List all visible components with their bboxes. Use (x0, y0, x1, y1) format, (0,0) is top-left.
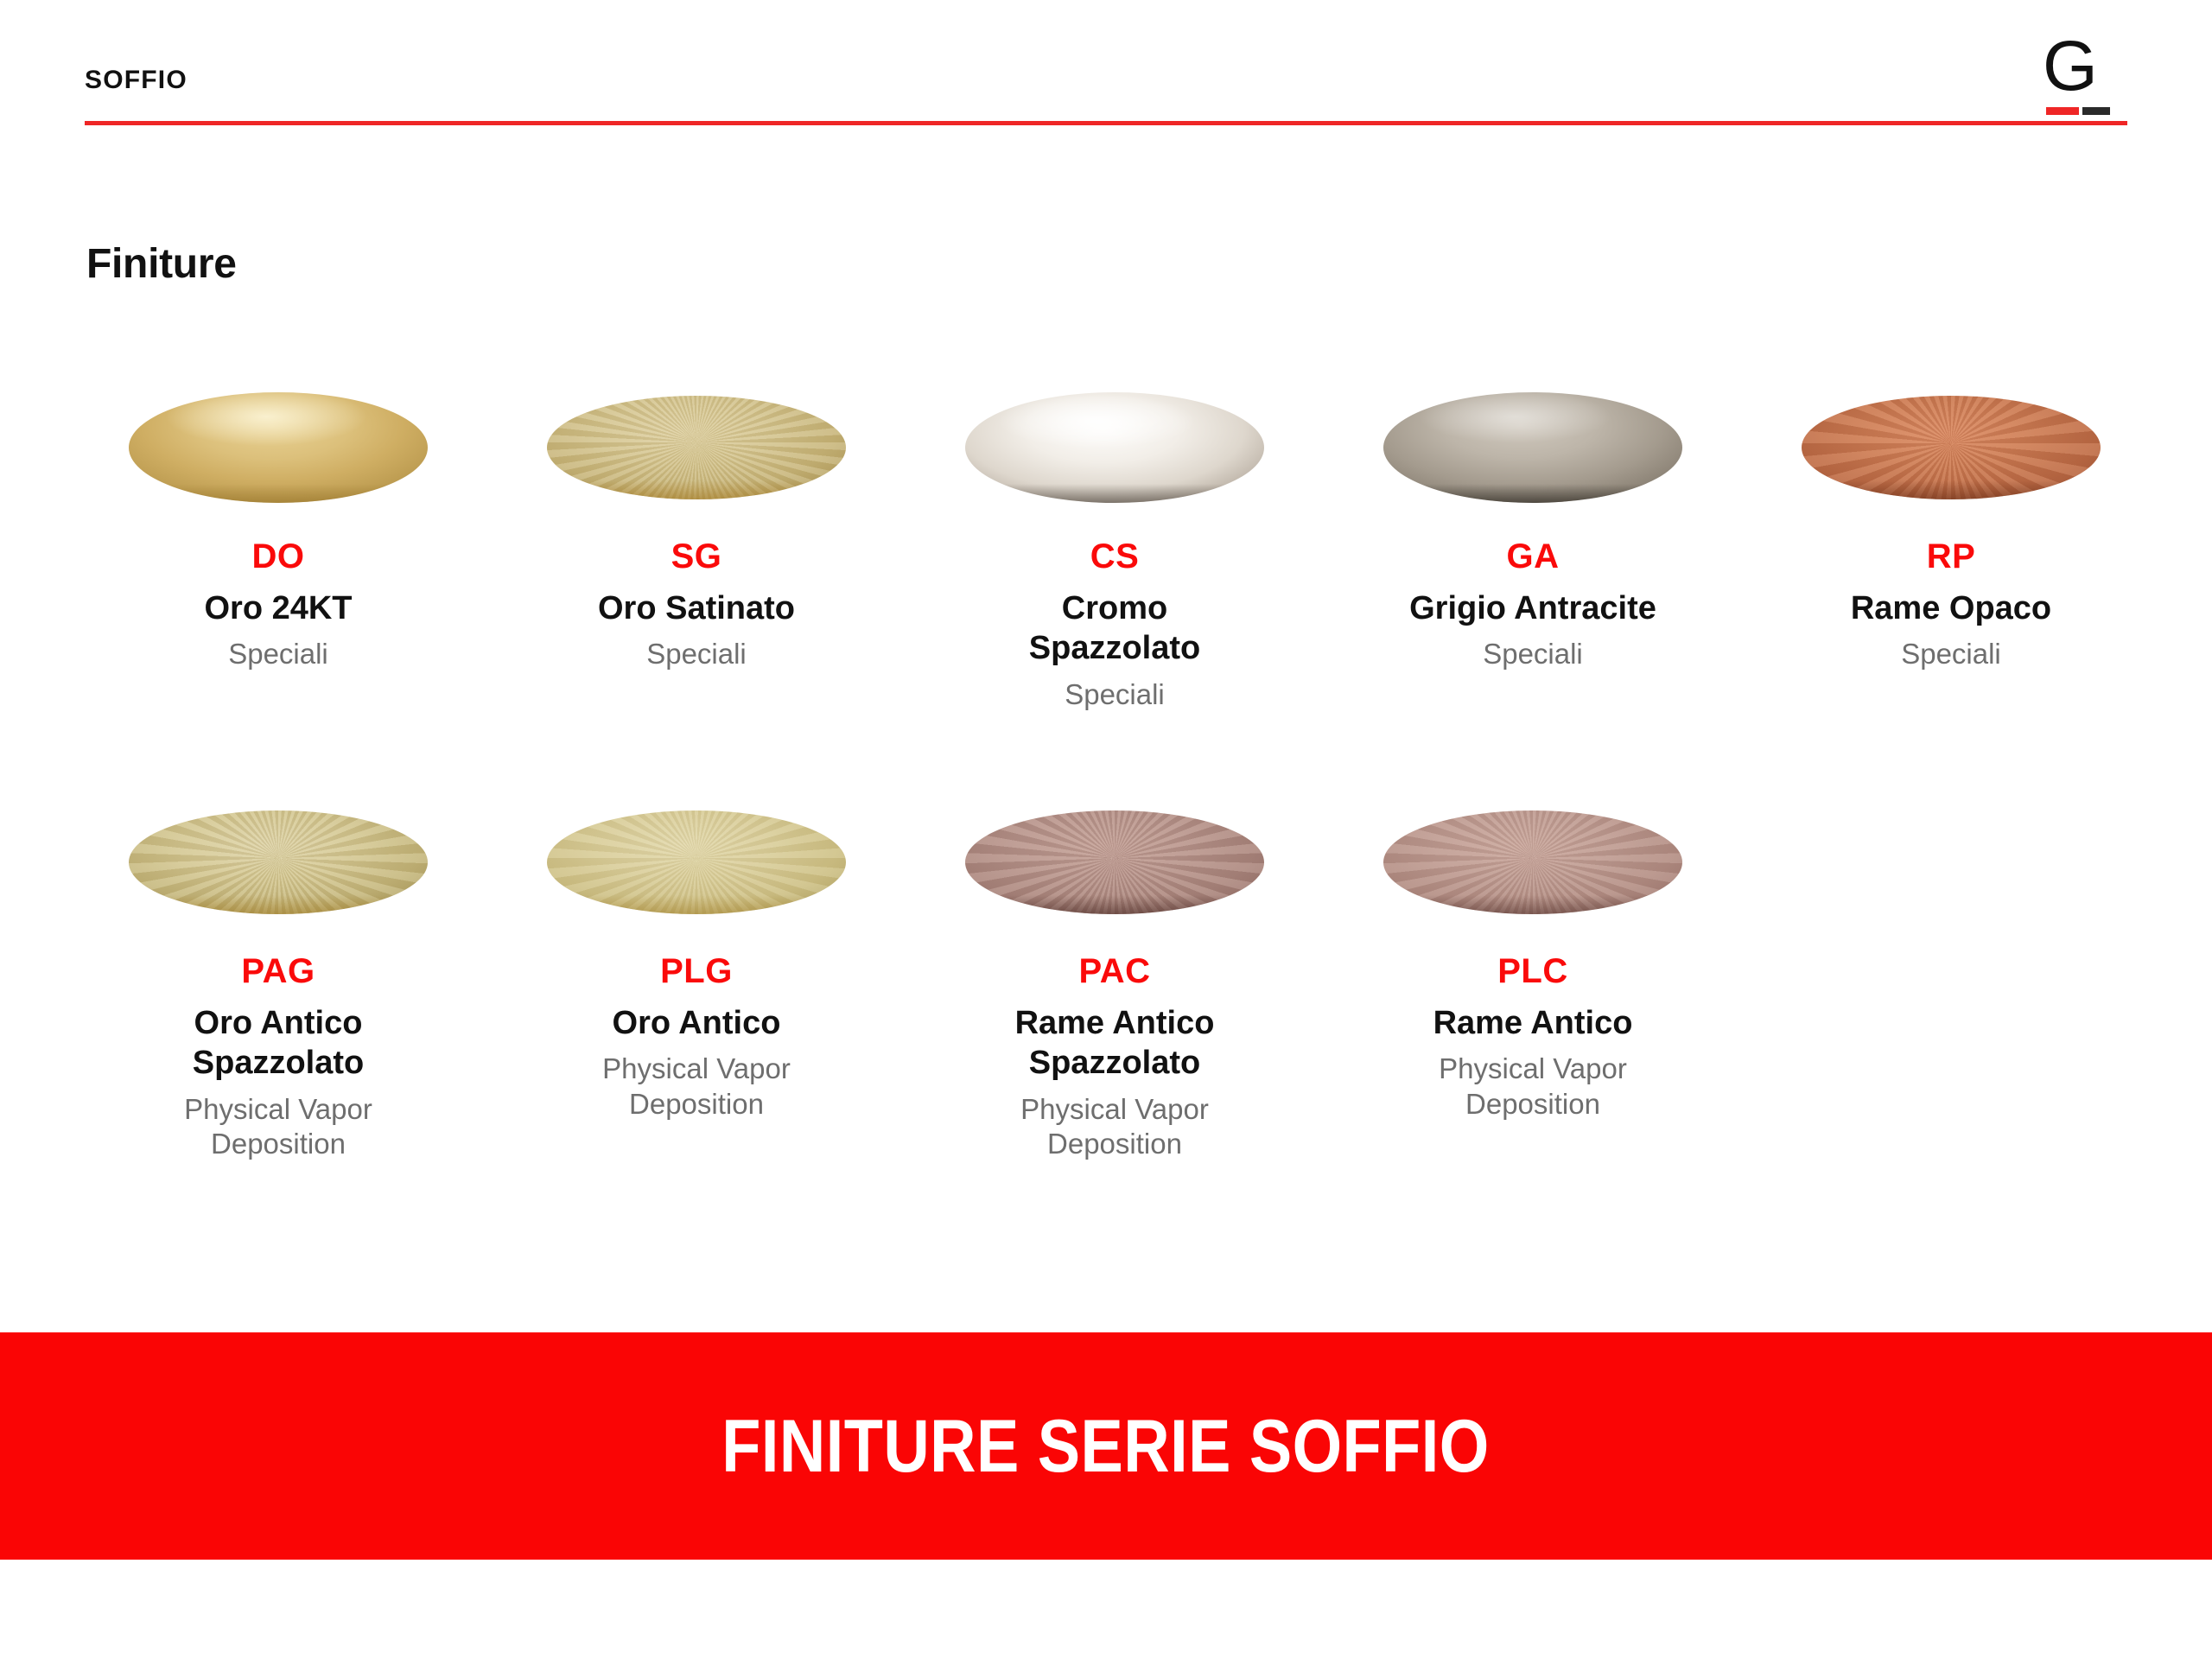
finish-subtitle: Physical Vapor Deposition (602, 1052, 791, 1122)
brand-g-letter-icon: G (2043, 31, 2098, 102)
finish-swatch-rp (1800, 380, 2102, 514)
finish-code: GA (1507, 537, 1560, 576)
finish-code: SG (671, 537, 722, 576)
finish-code: CS (1090, 537, 1140, 576)
finishes-grid: DO Oro 24KT Speciali SG Oro Satinato Spe… (69, 380, 2160, 1210)
footer-banner: FINITURE SERIE SOFFIO (0, 1332, 2212, 1560)
finish-subtitle: Physical Vapor Deposition (184, 1092, 372, 1162)
finish-swatch-do (127, 380, 429, 514)
brand-underline-red-bar (2046, 107, 2079, 115)
finish-swatch-plc (1382, 795, 1684, 929)
finish-code: PLG (660, 951, 733, 991)
finish-code: PAG (241, 951, 315, 991)
finish-card-cs[interactable]: CS Cromo Spazzolato Speciali (906, 380, 1324, 795)
finish-card-sg[interactable]: SG Oro Satinato Speciali (487, 380, 906, 795)
finish-swatch-pag (127, 795, 429, 929)
page-title: Finiture (86, 244, 237, 285)
finish-name: Rame Antico (1433, 1003, 1633, 1043)
finish-subtitle: Speciali (1901, 637, 2001, 671)
finish-subtitle: Physical Vapor Deposition (1439, 1052, 1627, 1122)
finish-swatch-cs (963, 380, 1266, 514)
finish-card-pag[interactable]: PAG Oro Antico Spazzolato Physical Vapor… (69, 795, 487, 1210)
footer-title: FINITURE SERIE SOFFIO (722, 1409, 1490, 1484)
finish-swatch-plg (545, 795, 848, 929)
finish-subtitle: Physical Vapor Deposition (1020, 1092, 1209, 1162)
finish-card-plg[interactable]: PLG Oro Antico Physical Vapor Deposition (487, 795, 906, 1210)
finish-subtitle: Speciali (228, 637, 328, 671)
finish-name: Cromo Spazzolato (1029, 588, 1200, 669)
finish-card-do[interactable]: DO Oro 24KT Speciali (69, 380, 487, 795)
finish-name: Oro 24KT (204, 588, 352, 628)
header-divider (85, 121, 2127, 125)
finish-subtitle: Speciali (646, 637, 747, 671)
finish-swatch-sg (545, 380, 848, 514)
finish-swatch-ga (1382, 380, 1684, 514)
finish-card-rp[interactable]: RP Rame Opaco Speciali (1742, 380, 2160, 795)
finish-name: Oro Satinato (598, 588, 795, 628)
finish-subtitle: Speciali (1065, 677, 1165, 712)
finish-code: DO (252, 537, 305, 576)
finish-name: Oro Antico (613, 1003, 781, 1043)
brand-underline-black-bar (2082, 107, 2110, 115)
finishes-row: PAG Oro Antico Spazzolato Physical Vapor… (69, 795, 2160, 1210)
brand-logo: G (2043, 36, 2133, 119)
finish-card-ga[interactable]: GA Grigio Antracite Speciali (1324, 380, 1742, 795)
brand-underline-icon (2046, 107, 2110, 115)
finish-subtitle: Speciali (1483, 637, 1583, 671)
finish-swatch-pac (963, 795, 1266, 929)
finish-card-plc[interactable]: PLC Rame Antico Physical Vapor Depositio… (1324, 795, 1742, 1210)
finish-code: PLC (1497, 951, 1568, 991)
finish-code: PAC (1079, 951, 1151, 991)
finish-code: RP (1927, 537, 1976, 576)
finish-name: Rame Antico Spazzolato (1015, 1003, 1215, 1084)
finish-name: Grigio Antracite (1409, 588, 1656, 628)
finish-name: Oro Antico Spazzolato (193, 1003, 364, 1084)
page-header: SOFFIO G (0, 0, 2212, 138)
series-label: SOFFIO (85, 67, 188, 93)
finish-card-pac[interactable]: PAC Rame Antico Spazzolato Physical Vapo… (906, 795, 1324, 1210)
finish-name: Rame Opaco (1851, 588, 2051, 628)
finishes-row: DO Oro 24KT Speciali SG Oro Satinato Spe… (69, 380, 2160, 795)
